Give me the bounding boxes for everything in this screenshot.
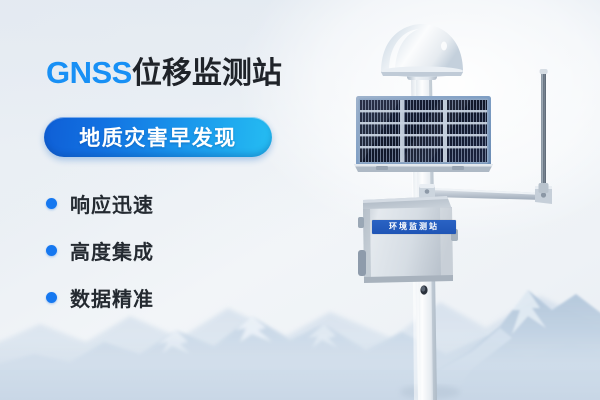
equipment-enclosure [358, 196, 458, 283]
mounting-bracket-arm [419, 184, 552, 204]
feature-label: 数据精准 [70, 283, 154, 312]
feature-label: 响应迅速 [70, 189, 154, 218]
feature-list: 响应迅速 高度集成 数据精准 [46, 180, 276, 321]
page-title: GNSS位移监测站 [46, 57, 282, 89]
feature-label: 高度集成 [70, 236, 154, 265]
gnss-antenna-dome [381, 24, 463, 80]
enclosure-hinge [358, 250, 366, 276]
ground-haze [0, 338, 600, 400]
sky-glow [240, 0, 600, 240]
tagline-badge: 地质灾害早发现 [44, 117, 272, 157]
tagline-badge-label: 地质灾害早发现 [79, 122, 237, 152]
mountain-layer-near [430, 290, 600, 400]
list-item: 高度集成 [46, 227, 276, 274]
device-ground-shadow [400, 385, 460, 399]
list-item: 数据精准 [46, 274, 276, 321]
mountain-layer-mid [0, 316, 600, 400]
solar-cell-grid [360, 100, 487, 162]
mast-pole [411, 78, 437, 400]
headline-chinese: 位移监测站 [132, 57, 282, 90]
whip-antenna-tip [540, 69, 548, 74]
list-item: 响应迅速 [46, 180, 276, 227]
bullet-dot-icon [46, 292, 57, 303]
enclosure-label-text: 环境监测站 [389, 223, 439, 231]
enclosure-label-strip: 环境监测站 [372, 220, 456, 234]
product-banner: 环境监测站 GNSS位移监测站 地质灾害早发现 响应迅速 高度集成 数据精准 [0, 0, 600, 400]
solar-panel [354, 96, 493, 172]
whip-antenna-rod [539, 69, 549, 193]
bullet-dot-icon [46, 198, 57, 209]
headline-english: GNSS [46, 55, 132, 90]
bullet-dot-icon [46, 245, 57, 256]
mast-port-icon [420, 285, 427, 294]
enclosure-tab-left [358, 217, 364, 228]
